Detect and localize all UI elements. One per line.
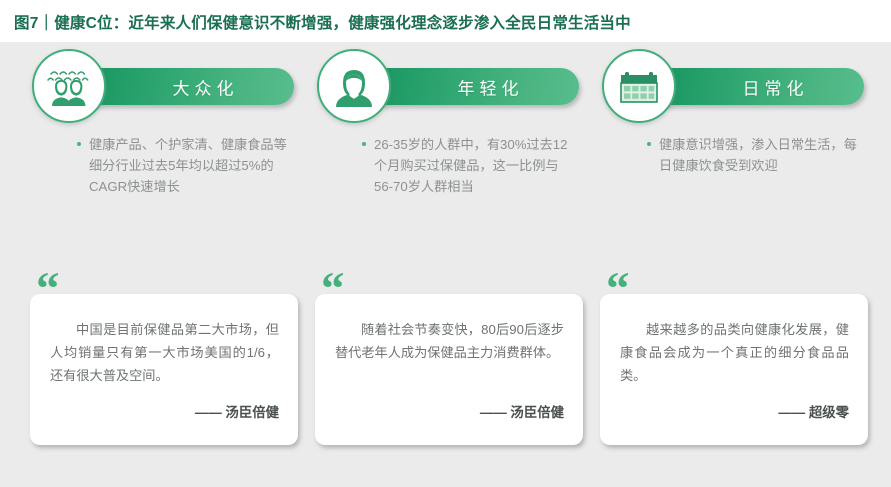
- quote-mark-icon: “: [606, 270, 630, 308]
- bullet-text: 健康意识增强，渗入日常生活，每日健康饮食受到欢迎: [659, 137, 857, 173]
- page-title: 图7｜健康C位：近年来人们保健意识不断增强，健康强化理念逐步渗入全民日常生活当中: [14, 11, 631, 33]
- badge-crowd: [32, 49, 106, 123]
- bullet-item: 26-35岁的人群中，有30%过去12个月购买过保健品，这一比例与56-70岁人…: [361, 134, 573, 197]
- quote-mark-icon: “: [36, 270, 60, 308]
- quote-text: 随着社会节奏变快，80后90后逐步替代老年人成为保健品主力消费群体。: [335, 318, 564, 364]
- quote-source: —— 超级零: [778, 401, 849, 421]
- banner-daily-routine: 日常化: [592, 42, 877, 128]
- bullet-item: 健康产品、个护家清、健康食品等细分行业过去5年均以超过5%的CAGR快速增长: [76, 134, 288, 197]
- bullet-text: 26-35岁的人群中，有30%过去12个月购买过保健品，这一比例与56-70岁人…: [374, 137, 567, 194]
- quote-source: —— 汤臣倍健: [195, 401, 279, 421]
- quote-card: 越来越多的品类向健康化发展，健康食品会成为一个真正的细分食品品类。 —— 超级零: [600, 294, 868, 445]
- quote-card: 随着社会节奏变快，80后90后逐步替代老年人成为保健品主力消费群体。 —— 汤臣…: [315, 294, 583, 445]
- bullet-dot-icon: [77, 142, 81, 146]
- header-bar: 图7｜健康C位：近年来人们保健意识不断增强，健康强化理念逐步渗入全民日常生活当中: [0, 0, 891, 42]
- banner-youthification: 年轻化: [307, 42, 592, 128]
- column-youthification: 年轻化 26-35: [307, 42, 592, 128]
- bullet-list-popularization: 健康产品、个护家清、健康食品等细分行业过去5年均以超过5%的CAGR快速增长: [76, 134, 288, 197]
- badge-person: [317, 49, 391, 123]
- quote-source: —— 汤臣倍健: [480, 401, 564, 421]
- bullet-dot-icon: [362, 142, 366, 146]
- person-icon: [332, 64, 376, 108]
- quote-mark-icon: “: [321, 270, 345, 308]
- crowd-icon: [46, 65, 92, 107]
- banner-popularization: 大众化: [22, 42, 307, 128]
- bullet-list-youthification: 26-35岁的人群中，有30%过去12个月购买过保健品，这一比例与56-70岁人…: [361, 134, 573, 197]
- bullet-list-daily-routine: 健康意识增强，渗入日常生活，每日健康饮食受到欢迎: [646, 134, 858, 176]
- bullet-text: 健康产品、个护家清、健康食品等细分行业过去5年均以超过5%的CAGR快速增长: [89, 137, 287, 194]
- badge-calendar: [602, 49, 676, 123]
- calendar-icon: [617, 65, 661, 107]
- quote-text: 越来越多的品类向健康化发展，健康食品会成为一个真正的细分食品品类。: [620, 318, 849, 387]
- quote-text: 中国是目前保健品第二大市场，但人均销量只有第一大市场美国的1/6，还有很大普及空…: [50, 318, 279, 387]
- quote-card: 中国是目前保健品第二大市场，但人均销量只有第一大市场美国的1/6，还有很大普及空…: [30, 294, 298, 445]
- bullet-item: 健康意识增强，渗入日常生活，每日健康饮食受到欢迎: [646, 134, 858, 176]
- column-daily-routine: 日常化: [592, 42, 877, 128]
- column-popularization: 大众化: [22, 42, 307, 128]
- content-board: 大众化: [0, 42, 891, 487]
- bullet-dot-icon: [647, 142, 651, 146]
